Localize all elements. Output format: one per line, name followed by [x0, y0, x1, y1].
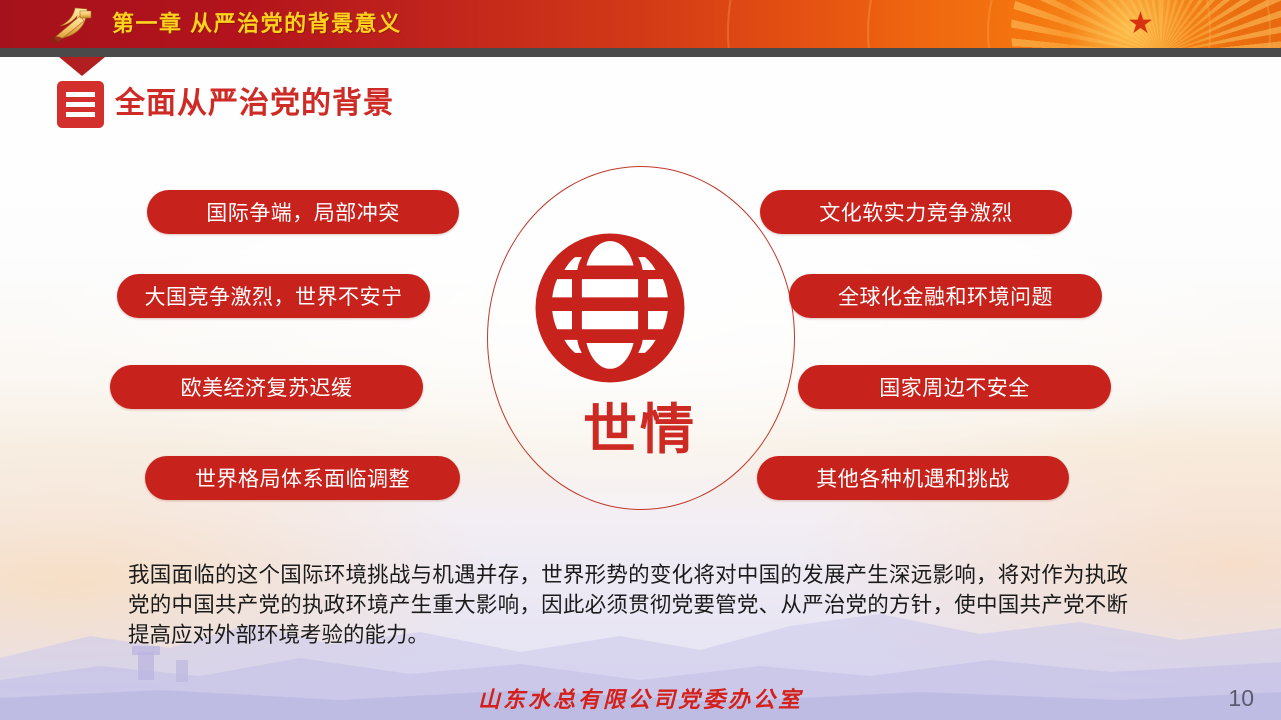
factor-pill-right-3[interactable]: 国家周边不安全 [798, 365, 1111, 409]
slide: ★ 第一章 从严治党的背景意义 全面从严治党的背景 [0, 0, 1281, 720]
banner-ring-decoration [727, 0, 1131, 48]
factor-pill-left-3[interactable]: 欧美经济复苏迟缓 [110, 365, 423, 409]
factor-pill-left-2[interactable]: 大国竞争激烈，世界不安宁 [117, 274, 430, 318]
triangle-down-icon [59, 57, 105, 76]
factor-pill-right-2[interactable]: 全球化金融和环境问题 [789, 274, 1102, 318]
globe-icon [534, 232, 686, 384]
banner-underline [0, 48, 1281, 57]
chapter-title: 第一章 从严治党的背景意义 [112, 8, 402, 40]
body-paragraph: 我国面临的这个国际环境挑战与机遇并存，世界形势的变化将对中国的发展产生深远影响，… [128, 560, 1128, 650]
factor-pill-left-1[interactable]: 国际争端，局部冲突 [147, 190, 459, 234]
factor-pill-right-1[interactable]: 文化软实力竞争激烈 [760, 190, 1072, 234]
center-label: 世情 [487, 398, 793, 462]
footer-organization: 山东水总有限公司党委办公室 [0, 682, 1281, 714]
factor-pill-right-4[interactable]: 其他各种机遇和挑战 [757, 456, 1069, 500]
factor-pill-left-4[interactable]: 世界格局体系面临调整 [145, 456, 460, 500]
title-banner: ★ 第一章 从严治党的背景意义 [0, 0, 1281, 48]
section-title: 全面从严治党的背景 [115, 84, 394, 124]
hammer-sickle-emblem [40, 4, 102, 44]
red-star-icon: ★ [1127, 12, 1153, 38]
page-number: 10 [1228, 684, 1254, 712]
hamburger-menu-icon [57, 81, 104, 128]
